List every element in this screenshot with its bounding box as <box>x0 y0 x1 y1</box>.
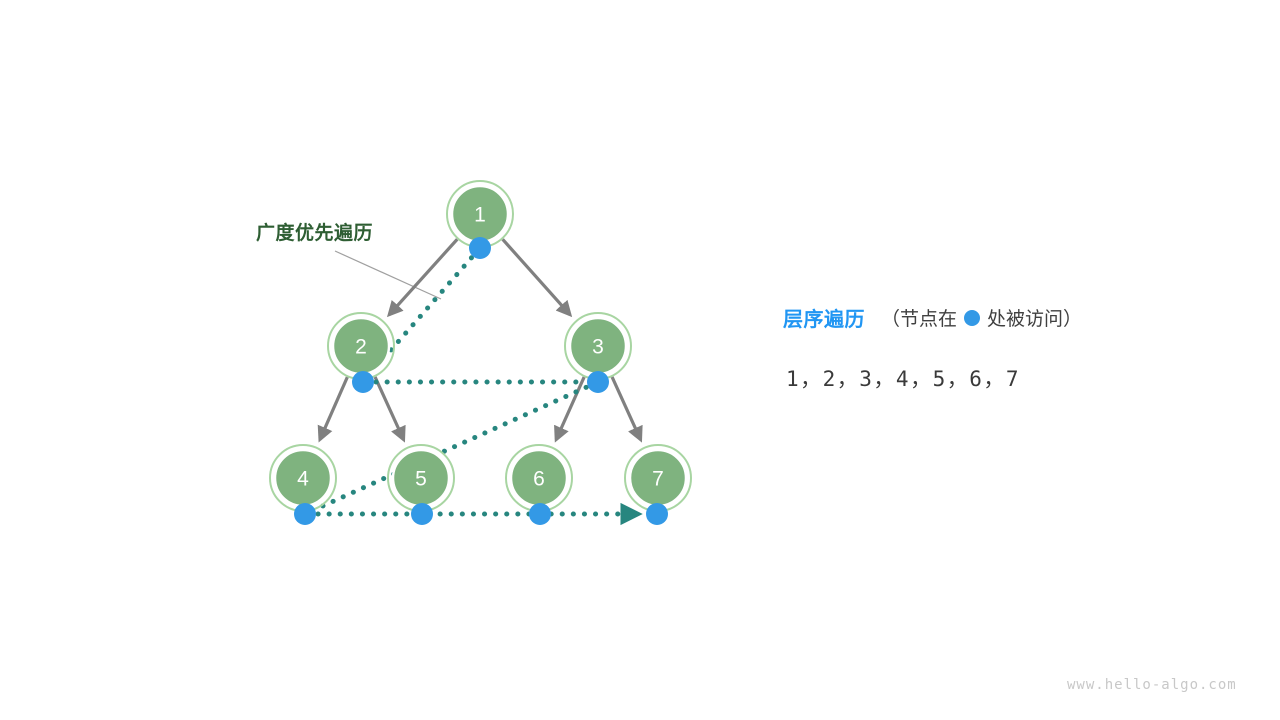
tree-edge-n2-n5 <box>375 377 404 440</box>
tree-node-2[interactable]: 2 <box>328 313 394 379</box>
tree-node-3[interactable]: 3 <box>565 313 631 379</box>
node-circle <box>275 450 331 506</box>
tree-edge-n2-n4 <box>320 377 347 439</box>
node-circle <box>511 450 567 506</box>
tree-node-6[interactable]: 6 <box>506 445 572 511</box>
legend-title: 层序遍历 <box>783 303 865 332</box>
node-circle <box>570 318 626 374</box>
tree-edge-n3-n7 <box>612 377 641 440</box>
visit-dots <box>294 237 668 525</box>
diagram-canvas: 1234567 广度优先遍历 层序遍历 （节点在 处被访问） 1，2，3，4，5… <box>0 0 1280 720</box>
visit-dot-6 <box>529 503 551 525</box>
traversal-sequence: 1，2，3，4，5，6，7 <box>786 363 1020 393</box>
tree-node-4[interactable]: 4 <box>270 445 336 511</box>
legend: 层序遍历 （节点在 处被访问） <box>783 303 1082 332</box>
legend-note-before: （节点在 <box>881 304 957 331</box>
legend-note: （节点在 处被访问） <box>881 304 1082 331</box>
visit-dot-7 <box>646 503 668 525</box>
tree-edge-n1-n2 <box>389 239 457 315</box>
tree-node-5[interactable]: 5 <box>388 445 454 511</box>
watermark: www.hello-algo.com <box>1067 677 1237 693</box>
visit-dot-5 <box>411 503 433 525</box>
node-circle <box>452 186 508 242</box>
visit-dot-3 <box>587 371 609 393</box>
tree-edge-n3-n6 <box>556 377 584 440</box>
legend-note-after: 处被访问） <box>987 304 1082 331</box>
visit-dot-1 <box>469 237 491 259</box>
bfs-annotation-label: 广度优先遍历 <box>256 218 373 245</box>
node-circle <box>333 318 389 374</box>
node-circle <box>630 450 686 506</box>
visit-dot-2 <box>352 371 374 393</box>
visit-dot-icon <box>964 310 980 326</box>
tree-edge-n1-n3 <box>503 239 570 314</box>
visit-dot-4 <box>294 503 316 525</box>
binary-tree-graphic: 1234567 <box>0 0 1280 720</box>
tree-node-7[interactable]: 7 <box>625 445 691 511</box>
node-circle <box>393 450 449 506</box>
